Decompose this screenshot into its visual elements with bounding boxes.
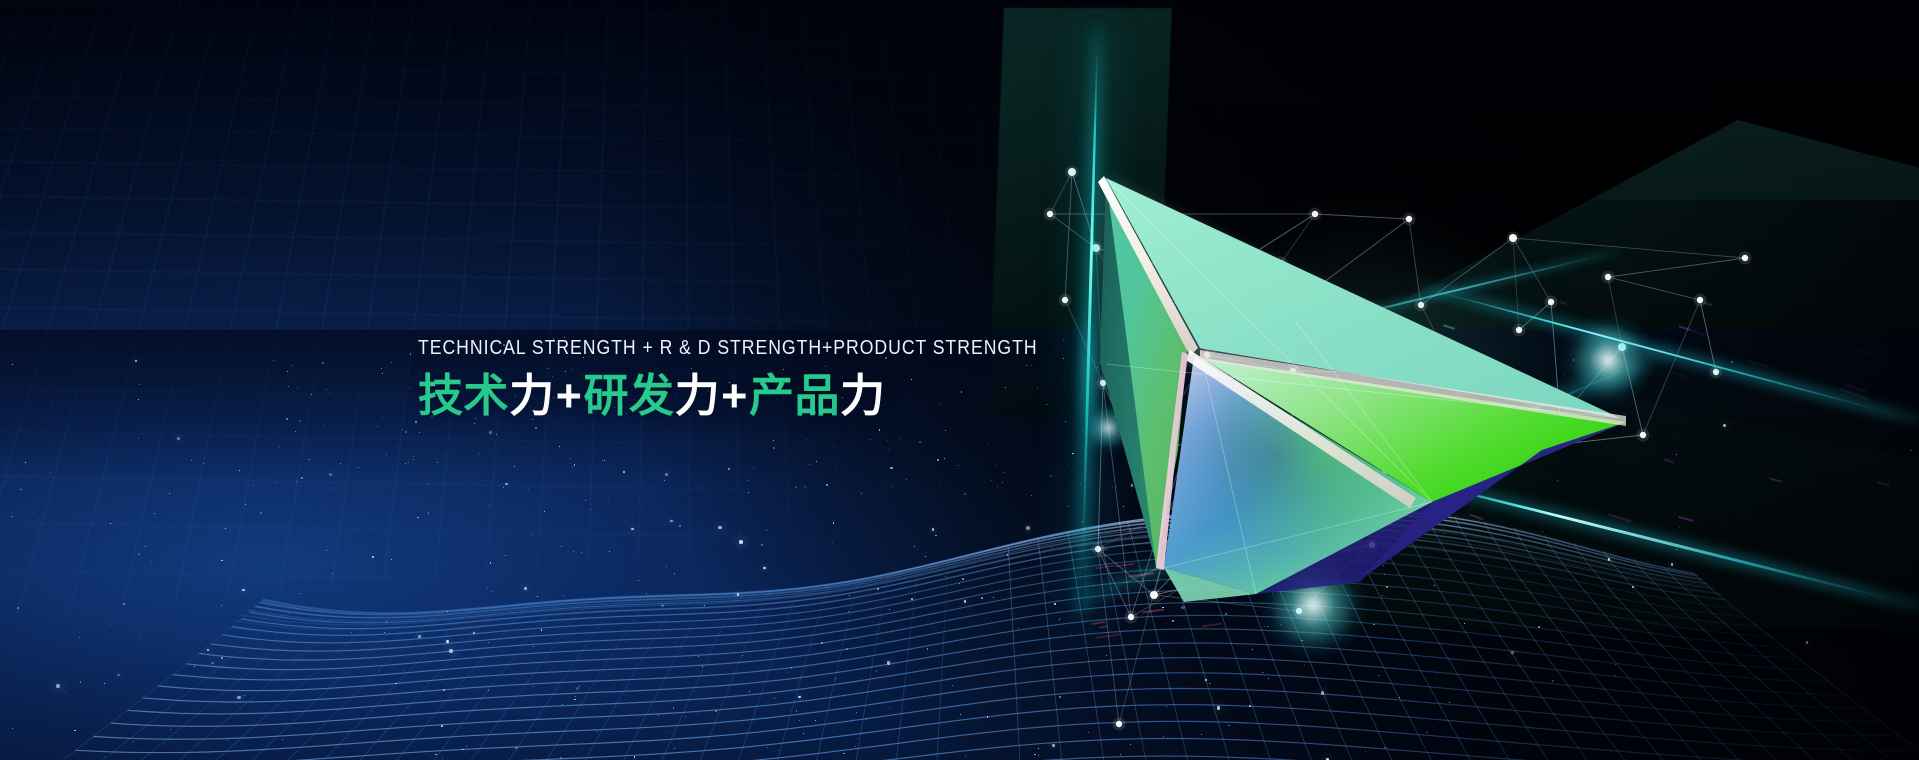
headline-segment-2: + — [555, 370, 584, 421]
network-node — [1742, 255, 1748, 261]
network-node — [1713, 369, 1719, 375]
hero-copy-block: TECHNICAL STRENGTH + R & D STRENGTH+PROD… — [418, 338, 1058, 419]
page-title: 技术力+研发力+产品力 — [418, 372, 1058, 420]
headline-segment-4: 力 — [675, 370, 721, 421]
eyebrow-tagline: TECHNICAL STRENGTH + R & D STRENGTH+PROD… — [418, 338, 968, 359]
headline-segment-6: 产品 — [749, 370, 840, 421]
hero-banner: TECHNICAL STRENGTH + R & D STRENGTH+PROD… — [0, 0, 1919, 760]
headline-segment-5: + — [720, 370, 749, 421]
headline-segment-7: 力 — [840, 370, 886, 421]
headline-segment-0: 技术 — [418, 370, 509, 421]
prism-arrow-logo — [1060, 150, 1680, 620]
network-node — [1047, 211, 1053, 217]
network-node — [1116, 721, 1122, 727]
headline-segment-3: 研发 — [583, 370, 674, 421]
headline-segment-1: 力 — [509, 370, 555, 421]
network-node — [1697, 297, 1703, 303]
